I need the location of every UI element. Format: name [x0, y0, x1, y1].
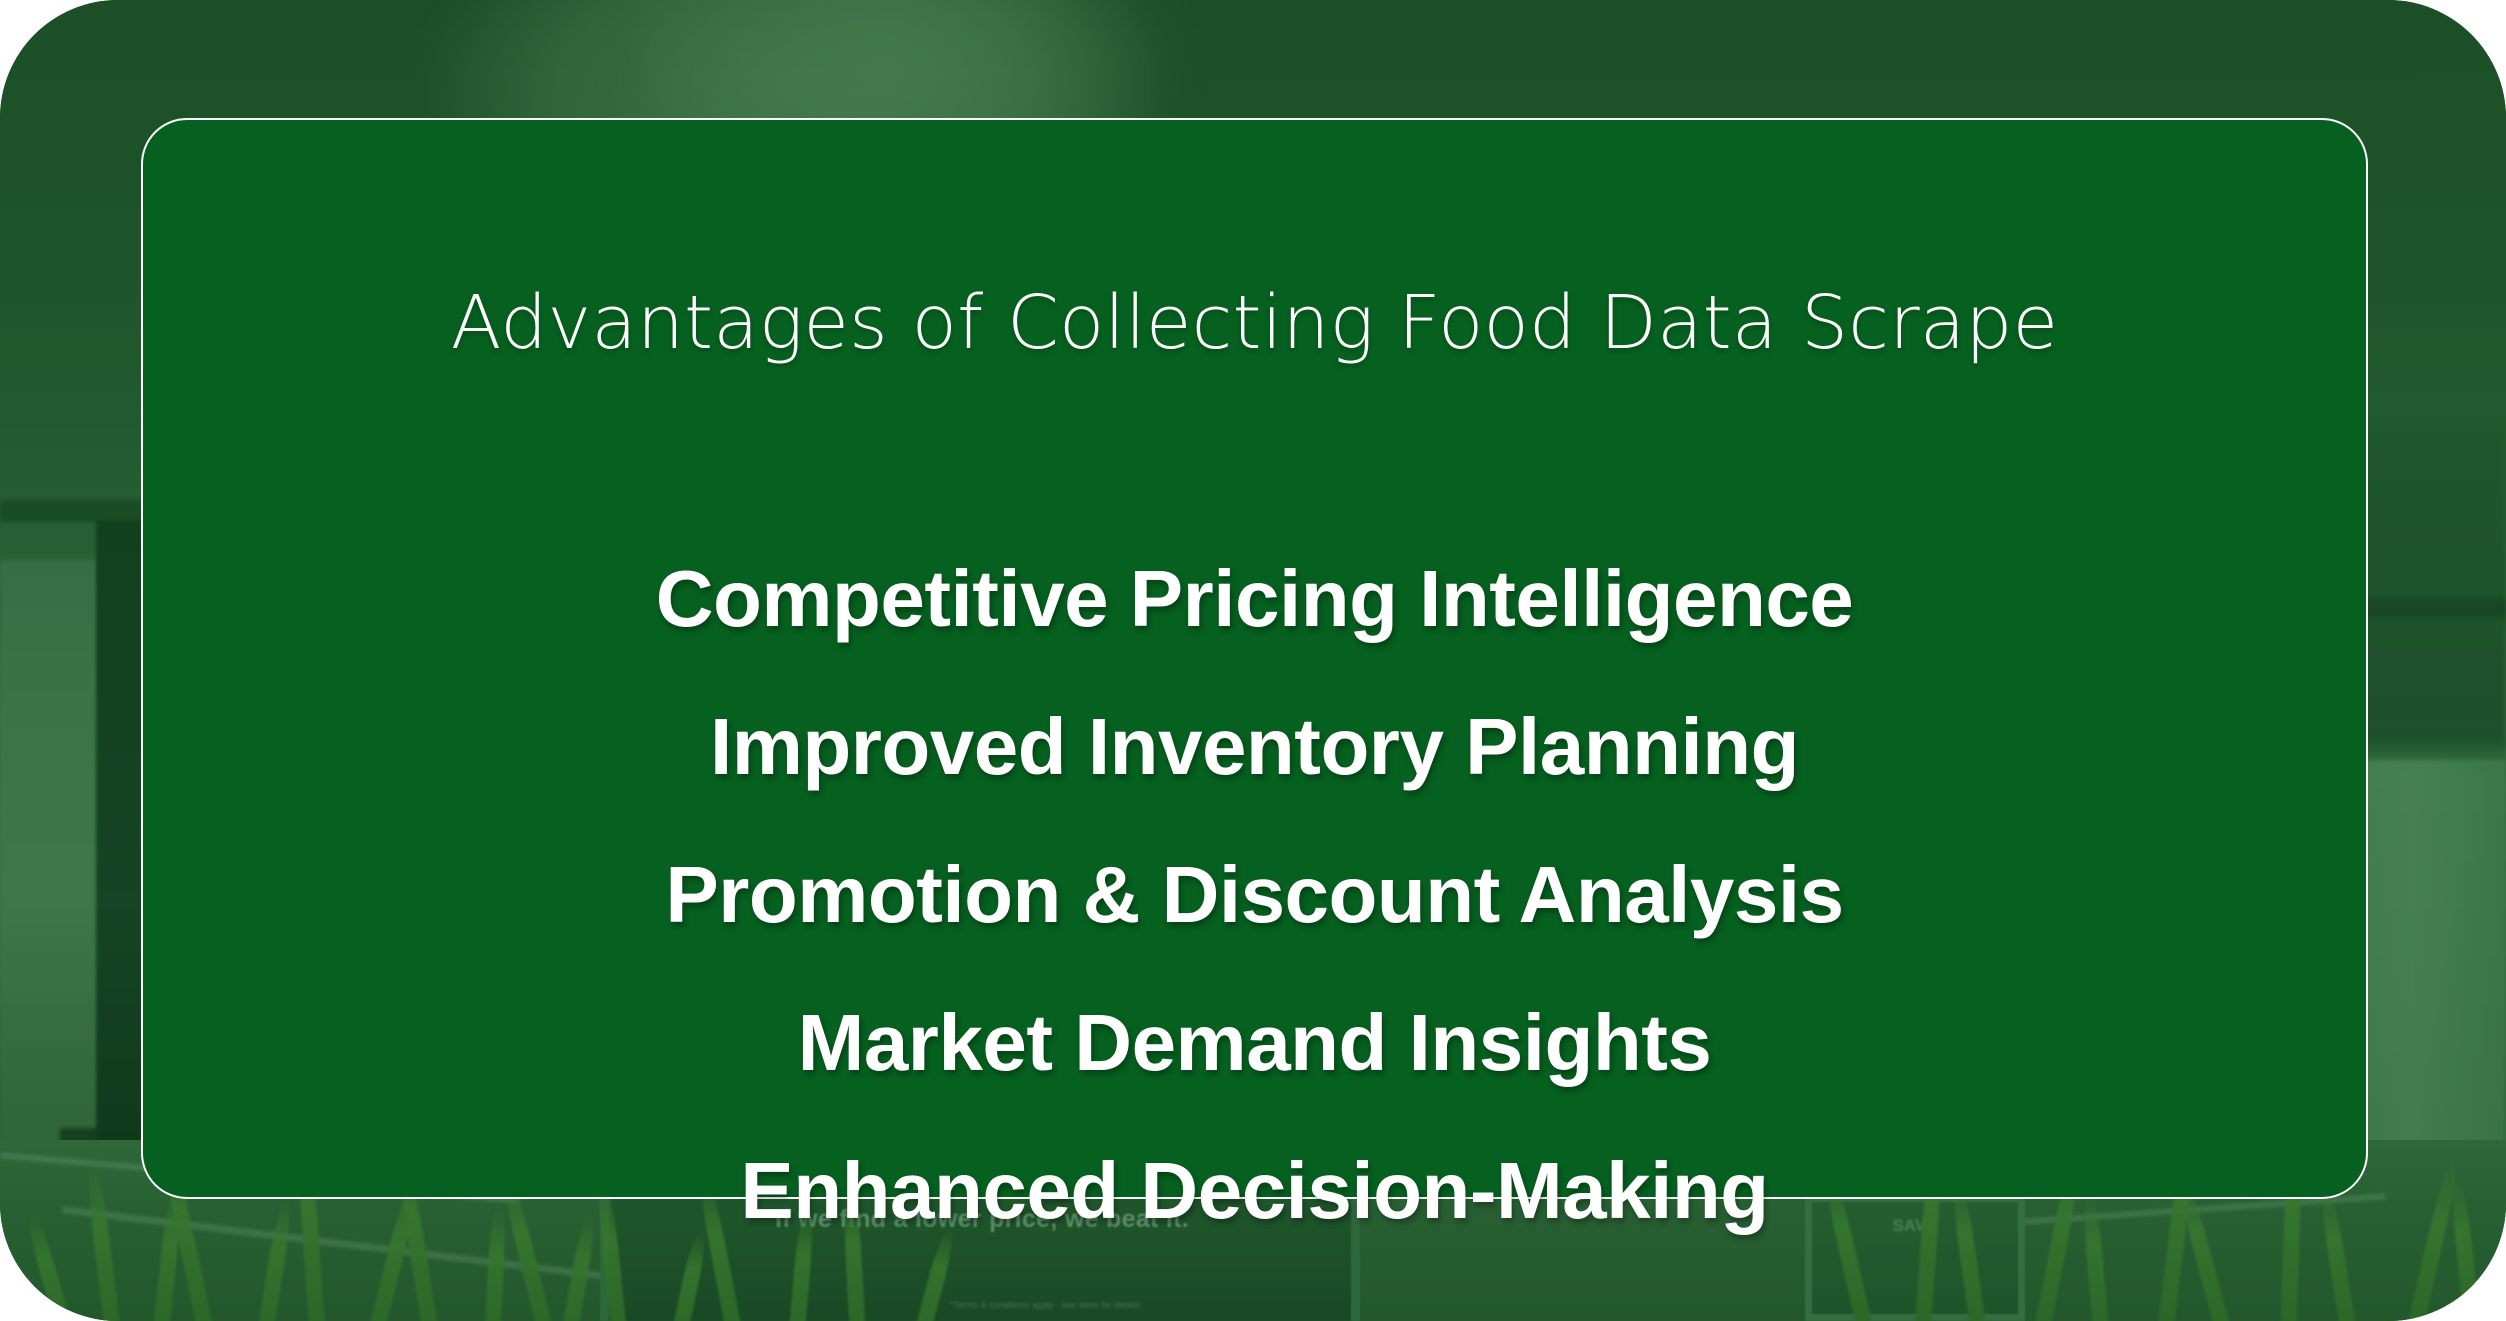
- list-item: Enhanced Decision-Making: [143, 1117, 2366, 1265]
- page-title: Advantages of Collecting Food Data Scrap…: [143, 286, 2366, 360]
- list-item: Promotion & Discount Analysis: [143, 821, 2366, 969]
- screenshot-stage: If we find a lower price, we beat it. *T…: [0, 0, 2506, 1321]
- list-item: Competitive Pricing Intelligence: [143, 525, 2366, 673]
- advantages-card: Advantages of Collecting Food Data Scrap…: [141, 118, 2368, 1199]
- list-item: Market Demand Insights: [143, 969, 2366, 1117]
- advantages-list: Competitive Pricing Intelligence Improve…: [143, 525, 2366, 1265]
- list-item: Improved Inventory Planning: [143, 673, 2366, 821]
